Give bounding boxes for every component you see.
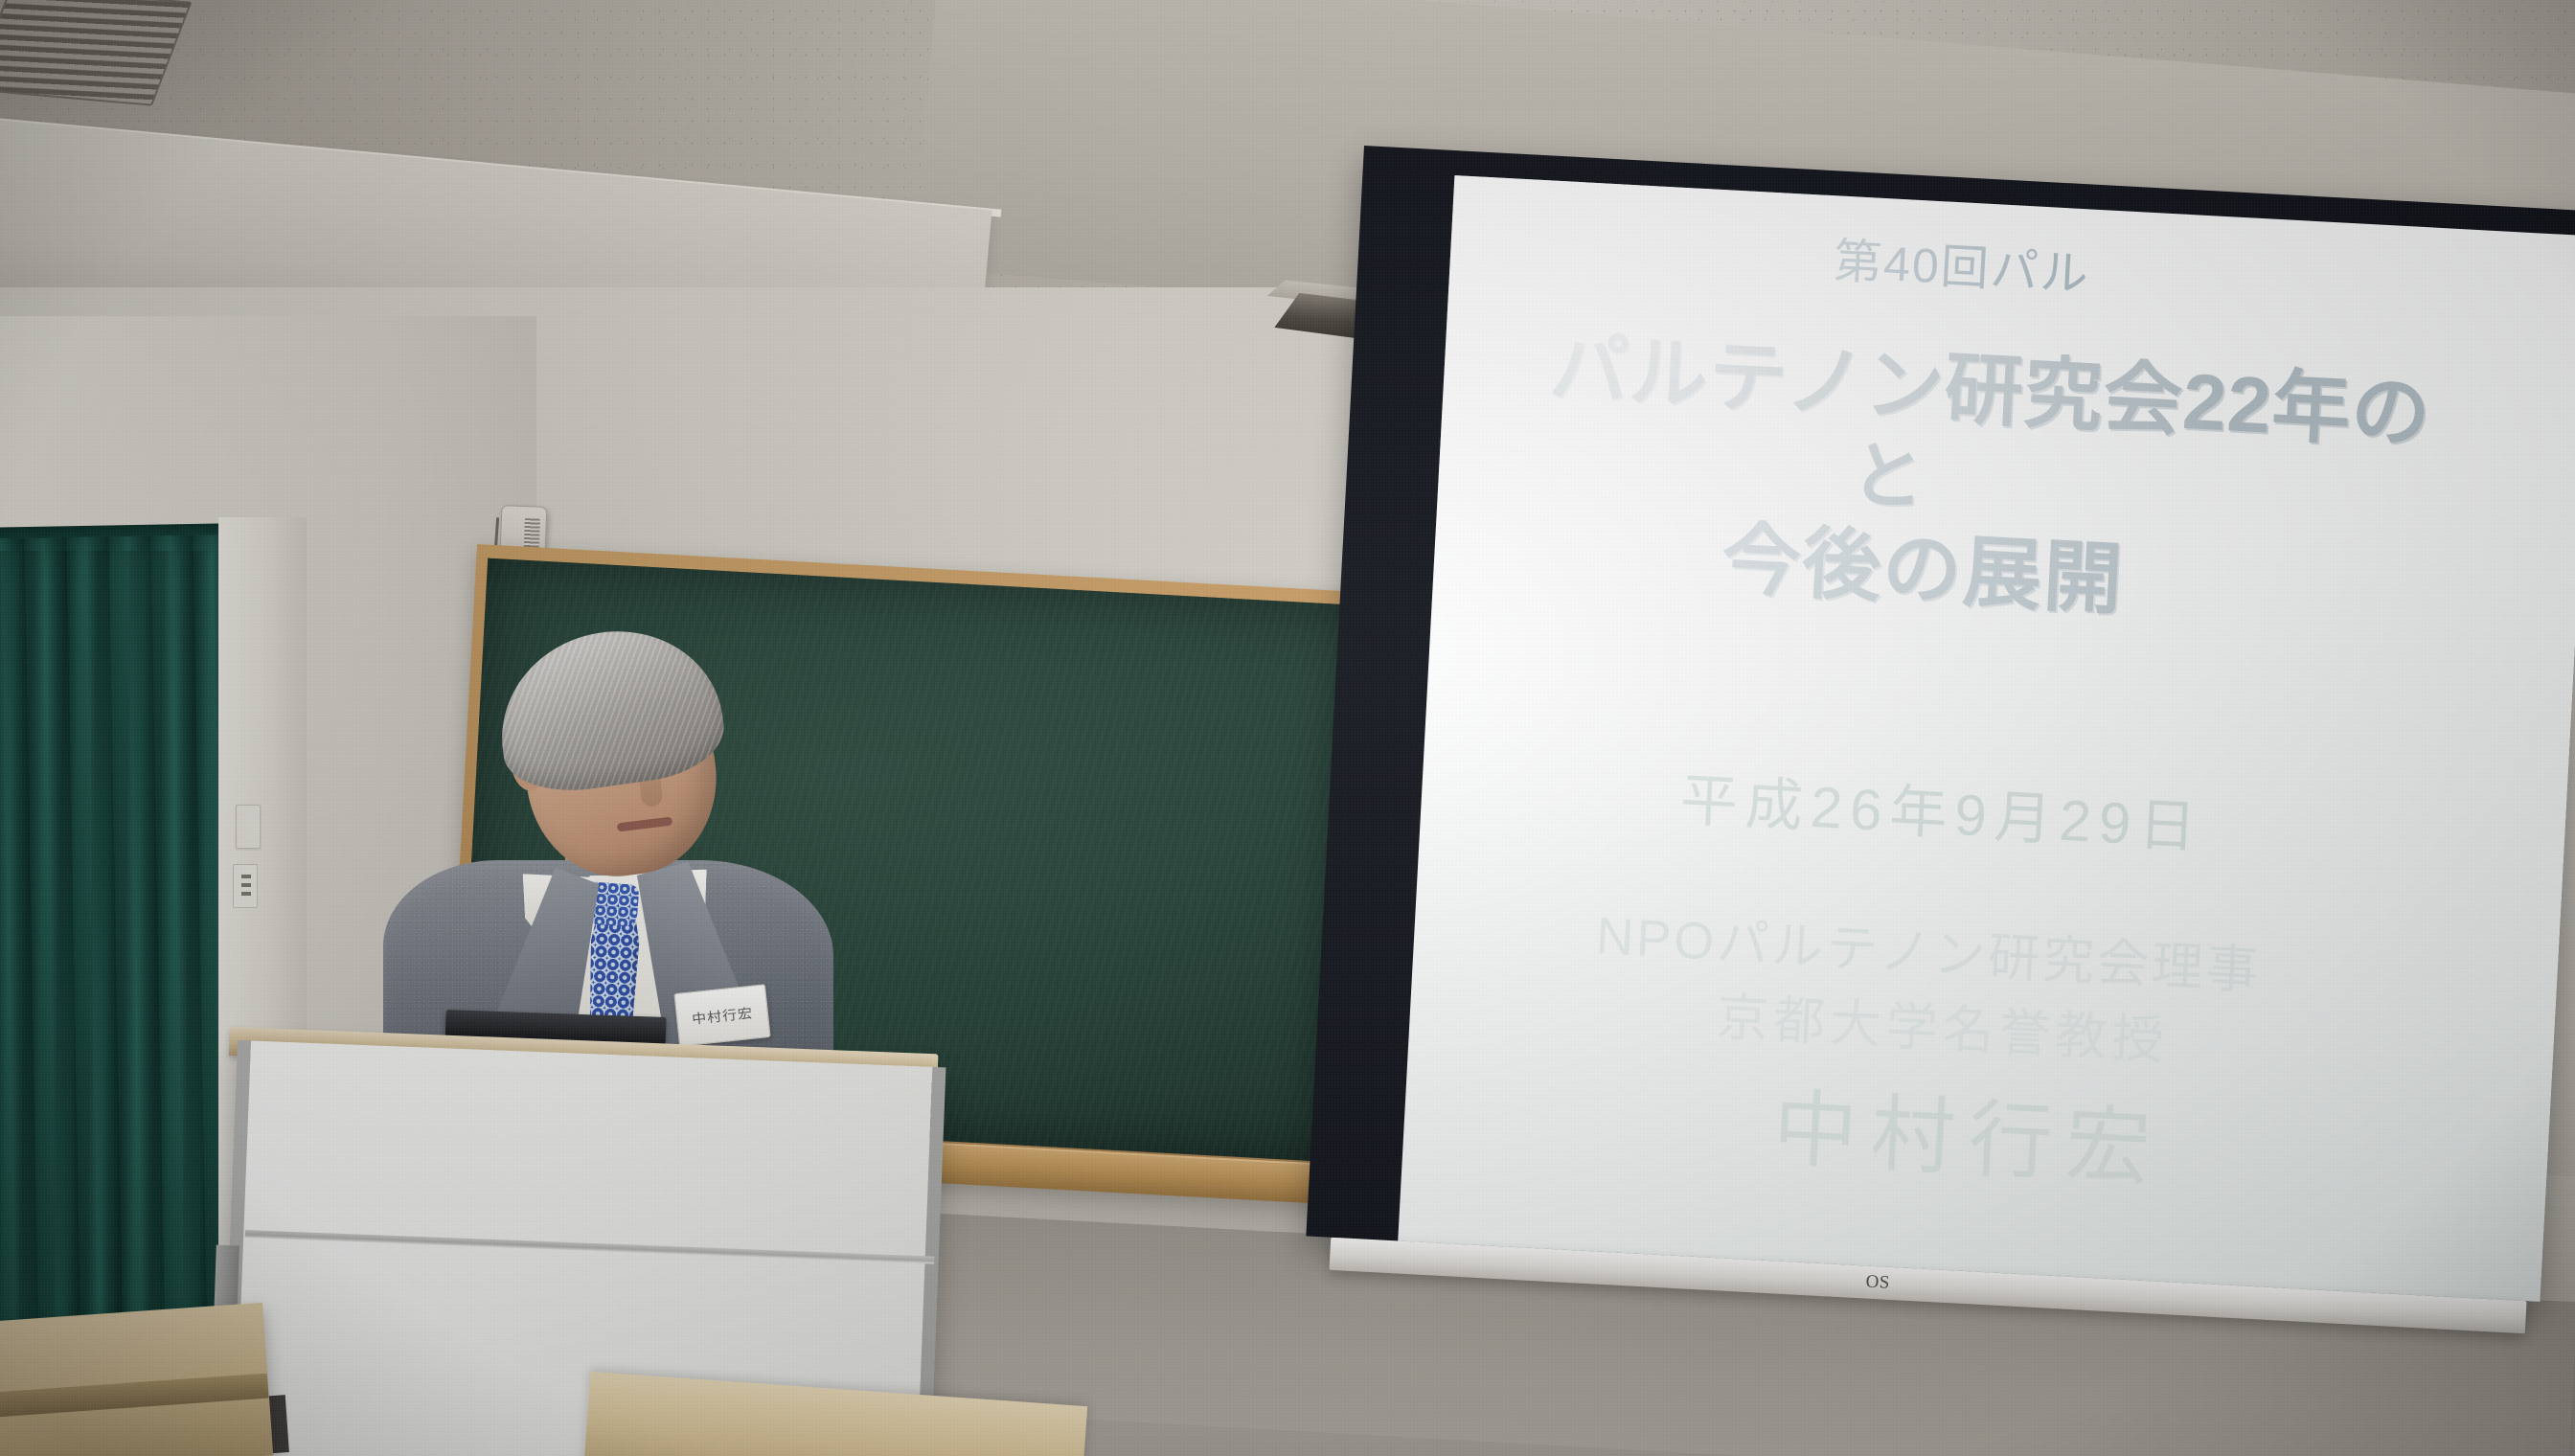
slide-title-line-1: パルテノン研究会22年の (1547, 304, 2434, 465)
outlet-slot (241, 892, 251, 896)
outlet-slot (241, 875, 251, 878)
screen-canvas: 第40回パル パルテノン研究会22年の と 今後の展開 平成26年9月29日 N… (1398, 175, 2575, 1302)
presenter: 中村行宏 (412, 632, 814, 1073)
presentation-slide: 第40回パル パルテノン研究会22年の と 今後の展開 平成26年9月29日 N… (1398, 175, 2575, 1302)
outlet-slot (241, 883, 251, 887)
wall-outlet[interactable] (233, 864, 258, 908)
screen-border: 第40回パル パルテノン研究会22年の と 今後の展開 平成26年9月29日 N… (1306, 146, 2575, 1302)
slide-date: 平成26年9月29日 (1678, 754, 2206, 865)
screen-brand-logo: OS (1865, 1272, 1890, 1294)
slide-header: 第40回パル (1833, 222, 2092, 305)
name-badge: 中村行宏 (673, 984, 770, 1047)
slide-presenter-name: 中村行宏 (1770, 1060, 2167, 1203)
name-badge-text: 中村行宏 (691, 1003, 754, 1028)
slide-title-line-3: 今後の展開 (1720, 495, 2128, 630)
projection-screen: 第40回パル パルテノン研究会22年の と 今後の展開 平成26年9月29日 N… (1304, 146, 2575, 1340)
lecture-hall-photo: 第40回パル パルテノン研究会22年の と 今後の展開 平成26年9月29日 N… (0, 0, 2575, 1456)
light-switch[interactable] (236, 805, 261, 849)
